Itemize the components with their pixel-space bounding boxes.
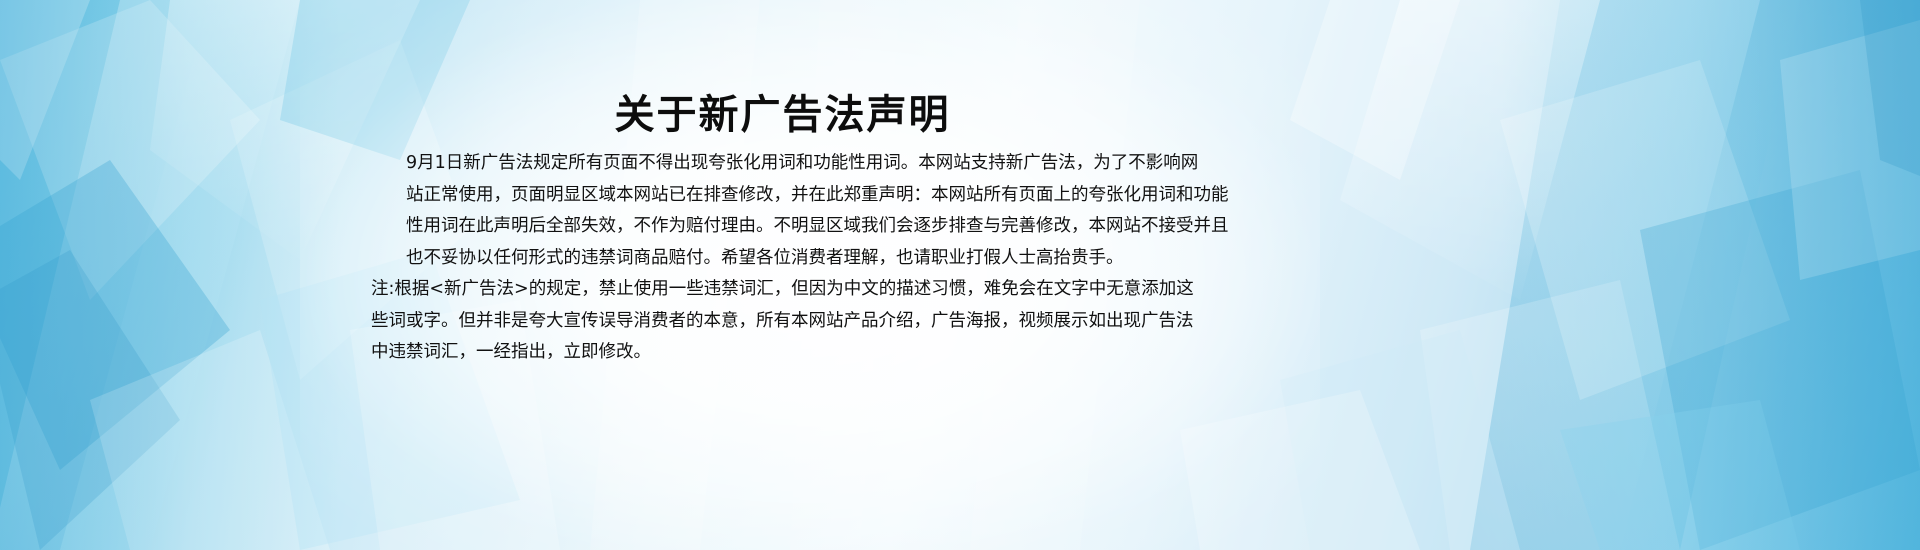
statement-content: 关于新广告法声明 9月1日新广告法规定所有页面不得出现夸张化用词和功能性用词。本…	[0, 0, 1920, 550]
paragraph-line: 注:根据<新广告法>的规定，禁止使用一些违禁词汇，但因为中文的描述习惯，难免会在…	[371, 274, 1176, 306]
paragraph-note: 注:根据<新广告法>的规定，禁止使用一些违禁词汇，但因为中文的描述习惯，难免会在…	[371, 274, 1176, 369]
paragraph-line: 站正常使用，页面明显区域本网站已在排查修改，并在此郑重声明：本网站所有页面上的夸…	[371, 180, 1176, 212]
paragraph-line: 9月1日新广告法规定所有页面不得出现夸张化用词和功能性用词。本网站支持新广告法，…	[371, 148, 1176, 180]
advertising-law-statement-banner: 关于新广告法声明 9月1日新广告法规定所有页面不得出现夸张化用词和功能性用词。本…	[0, 0, 1920, 550]
paragraph-line: 中违禁词汇，一经指出，立即修改。	[371, 337, 1176, 369]
paragraph-line: 些词或字。但并非是夸大宣传误导消费者的本意，所有本网站产品介绍，广告海报，视频展…	[371, 306, 1176, 338]
paragraph-line: 也不妥协以任何形式的违禁词商品赔付。希望各位消费者理解，也请职业打假人士高抬贵手…	[371, 243, 1176, 275]
paragraph-line: 性用词在此声明后全部失效，不作为赔付理由。不明显区域我们会逐步排查与完善修改，本…	[371, 211, 1176, 243]
statement-body: 9月1日新广告法规定所有页面不得出现夸张化用词和功能性用词。本网站支持新广告法，…	[371, 148, 1176, 369]
paragraph-statement: 9月1日新广告法规定所有页面不得出现夸张化用词和功能性用词。本网站支持新广告法，…	[371, 148, 1176, 274]
page-title: 关于新广告法声明	[0, 82, 1565, 140]
